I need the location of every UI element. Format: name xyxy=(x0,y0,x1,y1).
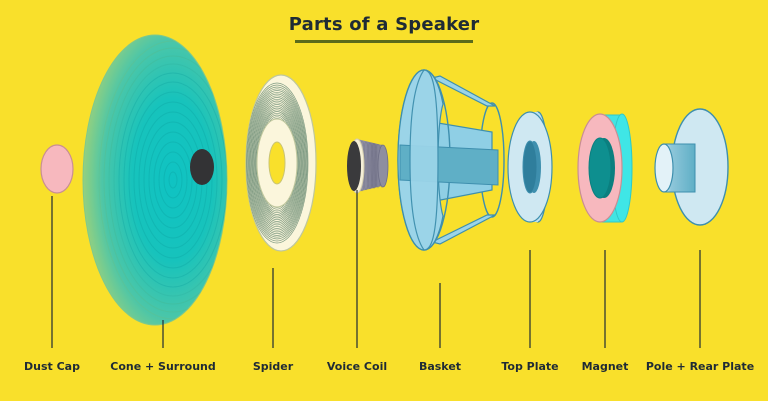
magnet-bore xyxy=(589,138,611,198)
part-basket[interactable] xyxy=(398,70,504,250)
basket-vertical-strut xyxy=(410,70,438,250)
part-cone-surround[interactable] xyxy=(83,35,247,325)
spider-center-hole xyxy=(269,142,285,184)
label-voice-coil[interactable]: Voice Coil xyxy=(327,360,387,373)
part-spider[interactable] xyxy=(246,75,316,251)
label-top-plate[interactable]: Top Plate xyxy=(501,360,558,373)
voice-coil-back-edge xyxy=(378,145,388,187)
voice-coil-cap xyxy=(347,141,361,191)
part-top-plate[interactable] xyxy=(508,112,552,222)
diagram-canvas: Parts of a Speaker xyxy=(0,0,768,401)
label-spider[interactable]: Spider xyxy=(253,360,293,373)
label-pole-rear-plate[interactable]: Pole + Rear Plate xyxy=(646,360,754,373)
dust-cap-shape xyxy=(41,145,73,193)
label-magnet[interactable]: Magnet xyxy=(582,360,629,373)
label-basket[interactable]: Basket xyxy=(419,360,461,373)
top-plate-bore xyxy=(523,141,537,193)
pole-piece-front-face xyxy=(655,144,673,192)
label-dust-cap[interactable]: Dust Cap xyxy=(24,360,80,373)
part-dust-cap[interactable] xyxy=(41,145,73,193)
part-magnet[interactable] xyxy=(578,114,632,222)
label-cone-surround[interactable]: Cone + Surround xyxy=(110,360,216,373)
part-voice-coil[interactable] xyxy=(347,139,388,193)
speaker-exploded-view xyxy=(0,0,768,401)
part-pole-rear-plate[interactable] xyxy=(655,109,728,225)
cone-center-hole xyxy=(190,149,214,185)
